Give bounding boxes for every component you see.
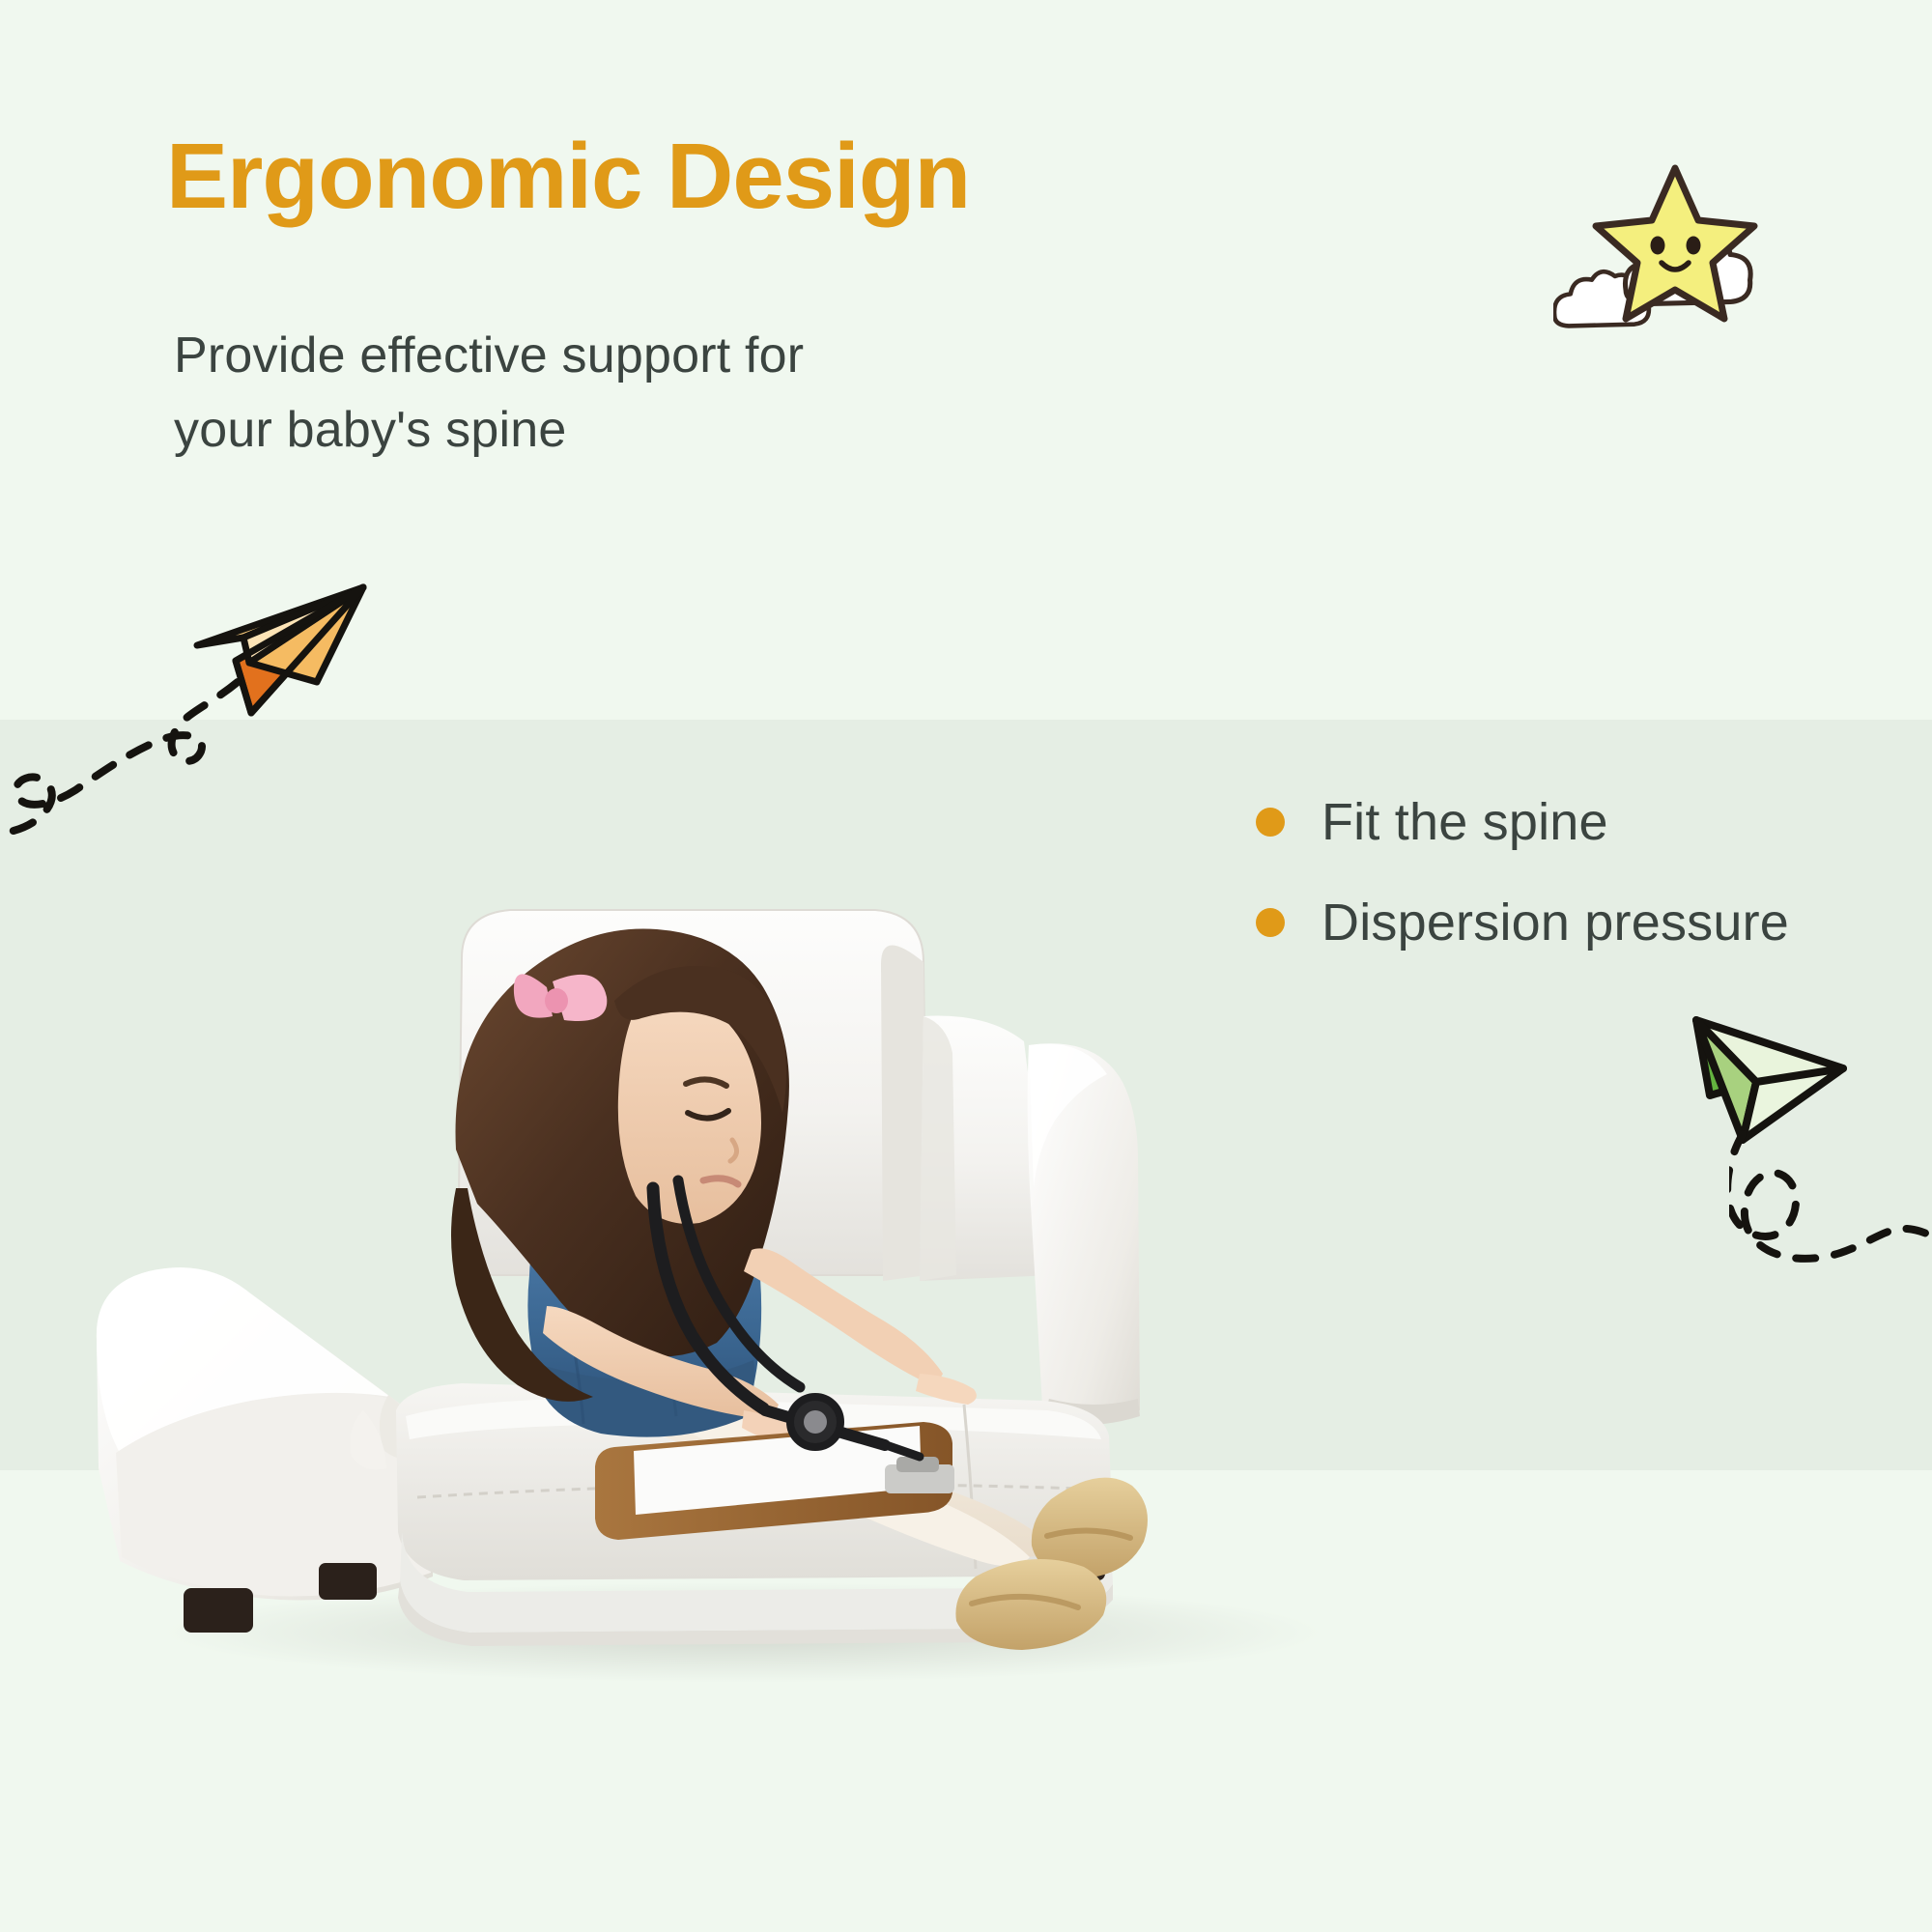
page-title: Ergonomic Design — [166, 128, 970, 226]
subtitle-line-1: Provide effective support for — [174, 319, 804, 393]
star-eye-left — [1651, 237, 1665, 255]
kids-sofa-with-child-photo — [77, 734, 1401, 1700]
page-subtitle: Provide effective support for your baby'… — [174, 319, 804, 468]
sofa-leg-rear-left — [319, 1563, 377, 1600]
sofa-armrest-left — [97, 1267, 435, 1600]
subtitle-line-2: your baby's spine — [174, 393, 804, 468]
smiling-star-cloud-icon — [1553, 145, 1795, 386]
marketing-banner: Ergonomic Design Provide effective suppo… — [0, 0, 1932, 1932]
dashed-trail-green — [1729, 1121, 1932, 1294]
star-eye-right — [1687, 237, 1701, 255]
sofa-armrest-right — [1028, 1043, 1140, 1425]
sofa-leg-front-left — [184, 1588, 253, 1633]
